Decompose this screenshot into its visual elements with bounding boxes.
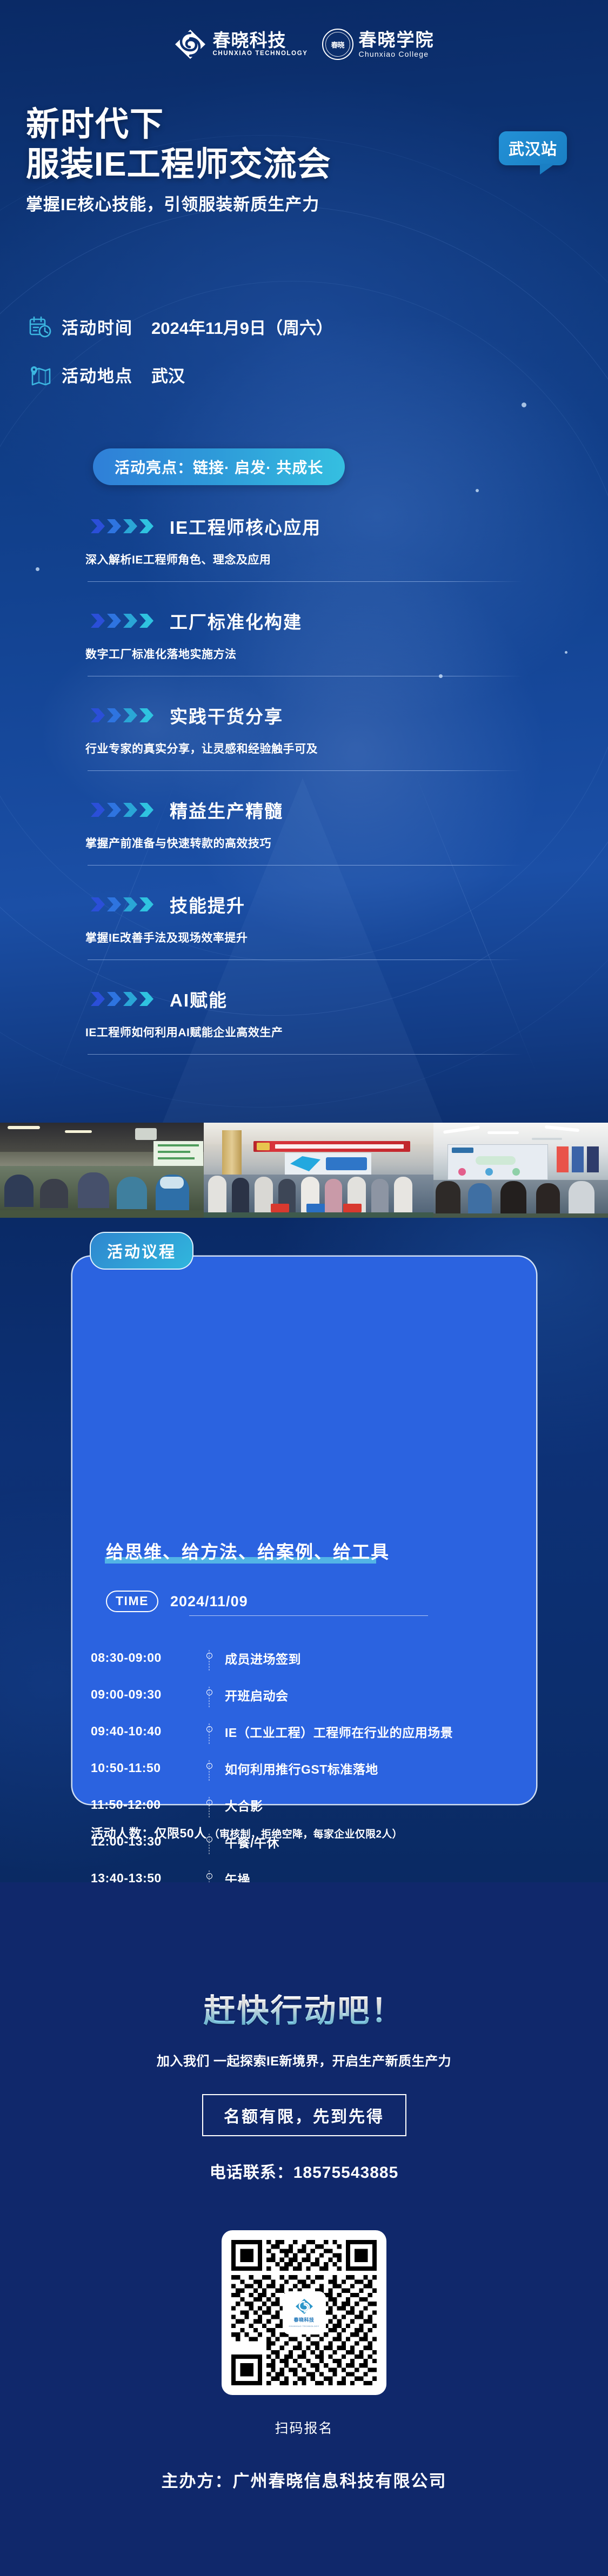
- schedule-text: 午操: [222, 1870, 250, 1882]
- timeline-connector: [197, 1760, 222, 1769]
- agenda-headline: 给思维、给方法、给案例、给工具: [106, 1538, 390, 1564]
- schedule-row: 08:30-09:00 成员进场签到: [91, 1650, 518, 1675]
- schedule-time: 11:50-12:00: [91, 1797, 197, 1813]
- logo-bar: 春晓科技 CHUNXIAO TECHNOLOGY 春晓 春晓学院 Chunxia…: [0, 26, 608, 63]
- logo1-en-text: CHUNXIAO TECHNOLOGY: [212, 51, 308, 57]
- classroom-audience-photo: [0, 1123, 204, 1218]
- meta-label-location: 活动地点: [62, 363, 133, 387]
- timeline-dot: [206, 1689, 212, 1695]
- cta-section: 赶快行动吧！ 加入我们 一起探索IE新境界，开启生产新质生产力 名额有限，先到先…: [0, 1882, 608, 2576]
- highlight-title: 精益生产精髓: [170, 797, 283, 823]
- schedule-text: 大合影: [222, 1797, 263, 1816]
- schedule-text: 如何利用推行GST标准落地: [222, 1760, 378, 1779]
- highlight-desc: 掌握IE改善手法及现场效率提升: [0, 929, 608, 945]
- timeline-connector: [197, 1797, 222, 1806]
- capacity-detail: （审核制，拒绝空降，每家企业仅限2人）: [209, 1826, 403, 1841]
- chevrons-right-icon: [91, 519, 161, 533]
- schedule-row: 13:40-13:50 午操: [91, 1870, 518, 1882]
- qr-logo-en-text: CHUNXIAO TECHNOLOGY: [289, 2325, 319, 2327]
- qr-caption: 扫码报名: [0, 2418, 608, 2437]
- agenda-section: 活动议程 给思维、给方法、给案例、给工具 TIME 2024/11/09 08:…: [0, 1218, 608, 1882]
- chevrons-right-icon: [91, 897, 161, 911]
- highlight-desc: 行业专家的真实分享，让灵感和经验触手可及: [0, 740, 608, 756]
- timeline-dot: [206, 1726, 212, 1732]
- schedule-row: 09:00-09:30 开班启动会: [91, 1687, 518, 1712]
- highlight-title: IE工程师核心应用: [170, 513, 321, 539]
- agenda-date-value: 2024/11/09: [170, 1593, 248, 1610]
- timeline-dot: [206, 1763, 212, 1769]
- highlight-title: AI赋能: [170, 986, 228, 1012]
- map-pin-icon: [28, 363, 52, 387]
- chevrons-right-icon: [91, 803, 161, 817]
- schedule-text: IE（工业工程）工程师在行业的应用场景: [222, 1723, 453, 1742]
- chunxiao-tech-logo-icon: [173, 29, 207, 60]
- logo2-cn-text: 春晓学院: [359, 31, 435, 49]
- chevrons-right-icon: [91, 614, 161, 628]
- highlight-desc: 数字工厂标准化落地实施方法: [0, 646, 608, 662]
- highlight-item: 实践干货分享 行业专家的真实分享，让灵感和经验触手可及: [0, 702, 608, 771]
- highlights-pill: 活动亮点：链接· 启发· 共成长: [93, 448, 345, 485]
- time-chip-label: TIME: [106, 1591, 158, 1612]
- logo1-cn-text: 春晓科技: [212, 31, 308, 49]
- timeline-dot: [206, 1653, 212, 1659]
- schedule-text: 成员进场签到: [222, 1650, 301, 1669]
- agenda-schedule-list: 08:30-09:00 成员进场签到 09:00-09:30 开班启动会 09:…: [91, 1650, 518, 1882]
- timeline-connector: [197, 1870, 222, 1879]
- highlight-item: AI赋能 IE工程师如何利用AI赋能企业高效生产: [0, 986, 608, 1055]
- timeline-dot: [206, 1800, 212, 1806]
- cta-headline-wrap: 赶快行动吧！: [0, 1882, 608, 2031]
- schedule-row: 11:50-12:00 大合影: [91, 1797, 518, 1822]
- phone-number: 18575543885: [293, 2164, 399, 2182]
- calendar-clock-icon: [28, 315, 52, 339]
- schedule-row: 10:50-11:50 如何利用推行GST标准落地: [91, 1760, 518, 1785]
- highlight-desc: 掌握产前准备与快速转款的高效技巧: [0, 835, 608, 851]
- training-room-photo: [433, 1123, 608, 1218]
- hero-title-block: 新时代下 服装IE工程师交流会 掌握IE核心技能，引领服装新质生产力: [26, 107, 331, 215]
- decorative-spark: [476, 489, 479, 492]
- divider: [189, 1615, 428, 1616]
- hero-meta-list: 活动时间 2024年11月9日（周六） 活动地点 武汉: [28, 314, 333, 411]
- timeline-connector: [197, 1687, 222, 1695]
- schedule-time: 13:40-13:50: [91, 1870, 197, 1882]
- meta-label-time: 活动时间: [62, 314, 133, 339]
- agenda-capacity-note: 活动人数：仅限50人 （审核制，拒绝空降，每家企业仅限2人）: [91, 1823, 403, 1841]
- group-photo-with-banner: [204, 1123, 433, 1218]
- schedule-time: 08:30-09:00: [91, 1650, 197, 1666]
- highlight-title: 技能提升: [170, 891, 245, 917]
- schedule-time: 10:50-11:50: [91, 1760, 197, 1776]
- logo-chunxiao-technology: 春晓科技 CHUNXIAO TECHNOLOGY: [173, 29, 308, 60]
- schedule-time: 09:00-09:30: [91, 1687, 197, 1702]
- highlight-desc: IE工程师如何利用AI赋能企业高效生产: [0, 1024, 608, 1040]
- seal-text: 春晓: [331, 39, 344, 50]
- timeline-dot: [206, 1873, 212, 1879]
- phone-label: 电话联系：: [210, 2164, 293, 2182]
- meta-value-location: 武汉: [151, 363, 185, 387]
- highlight-item: 精益生产精髓 掌握产前准备与快速转款的高效技巧: [0, 797, 608, 866]
- photo-strip: [0, 1123, 608, 1218]
- contact-phone-row[interactable]: 电话联系：18575543885: [0, 2159, 608, 2183]
- highlight-title: 工厂标准化构建: [170, 608, 302, 634]
- meta-value-time: 2024年11月9日（周六）: [151, 314, 333, 339]
- cta-subline: 加入我们 一起探索IE新境界，开启生产新质生产力: [0, 2050, 608, 2069]
- schedule-row: 09:40-10:40 IE（工业工程）工程师在行业的应用场景: [91, 1723, 518, 1748]
- highlight-item: 技能提升 掌握IE改善手法及现场效率提升: [0, 891, 608, 960]
- logo2-en-text: Chunxiao College: [359, 50, 435, 58]
- logo-chunxiao-college: 春晓 春晓学院 Chunxiao College: [322, 29, 435, 60]
- limited-seats-box: 名额有限，先到先得: [202, 2094, 406, 2136]
- qr-code-card[interactable]: 春晓科技 CHUNXIAO TECHNOLOGY: [222, 2230, 386, 2395]
- timeline-connector: [197, 1723, 222, 1732]
- city-badge: 武汉站: [499, 131, 567, 165]
- schedule-text: 开班启动会: [222, 1687, 289, 1706]
- chevrons-right-icon: [91, 708, 161, 722]
- qr-center-logo: 春晓科技 CHUNXIAO TECHNOLOGY: [284, 2293, 324, 2333]
- chunxiao-tech-logo-icon: [295, 2298, 313, 2315]
- decorative-spark: [522, 403, 526, 407]
- highlights-list: IE工程师核心应用 深入解析IE工程师角色、理念及应用 工厂标准化构建 数字工厂…: [0, 513, 608, 1055]
- schedule-time: 09:40-10:40: [91, 1723, 197, 1739]
- qr-logo-cn-text: 春晓科技: [293, 2316, 314, 2323]
- hero-title-line1: 新时代下: [26, 107, 331, 143]
- agenda-tab-label: 活动议程: [90, 1232, 193, 1270]
- college-seal-icon: 春晓: [322, 29, 353, 60]
- cta-headline: 赶快行动吧！: [203, 1985, 404, 2031]
- highlight-desc: 深入解析IE工程师角色、理念及应用: [0, 551, 608, 567]
- highlight-title: 实践干货分享: [170, 702, 283, 728]
- qr-code-image: 春晓科技 CHUNXIAO TECHNOLOGY: [231, 2240, 377, 2385]
- capacity-label: 活动人数：仅限50人: [91, 1823, 207, 1841]
- divider: [88, 1054, 523, 1055]
- meta-row-location: 活动地点 武汉: [28, 363, 333, 387]
- meta-row-time: 活动时间 2024年11月9日（周六）: [28, 314, 333, 339]
- chevrons-right-icon: [91, 992, 161, 1006]
- highlight-item: 工厂标准化构建 数字工厂标准化落地实施方法: [0, 608, 608, 676]
- host-organization: 主办方：广州春晓信息科技有限公司: [0, 2467, 608, 2492]
- timeline-connector: [197, 1650, 222, 1659]
- hero-section: 春晓科技 CHUNXIAO TECHNOLOGY 春晓 春晓学院 Chunxia…: [0, 0, 608, 1123]
- hero-subtitle: 掌握IE核心技能，引领服装新质生产力: [26, 191, 331, 215]
- agenda-date-row: TIME 2024/11/09: [106, 1591, 248, 1612]
- highlight-item: IE工程师核心应用 深入解析IE工程师角色、理念及应用: [0, 513, 608, 582]
- hero-title-line2: 服装IE工程师交流会: [26, 146, 331, 183]
